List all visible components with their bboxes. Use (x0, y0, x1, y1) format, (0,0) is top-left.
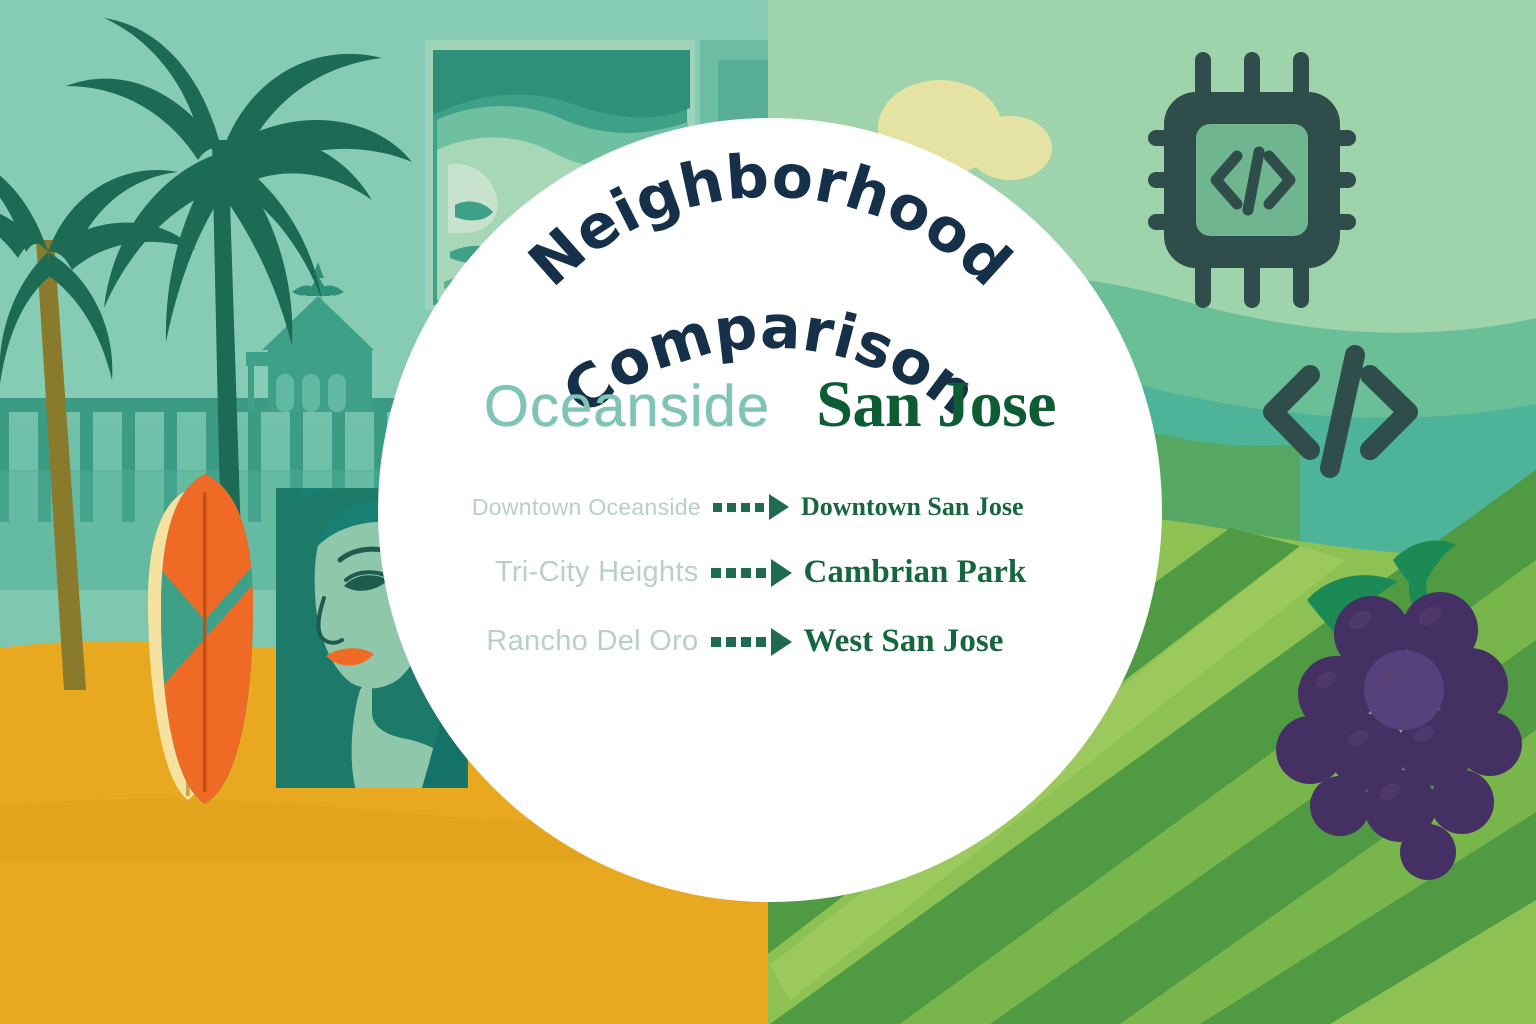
comparison-row: Rancho Del Oro West San Jose (378, 623, 1162, 660)
arrow-dash (711, 568, 721, 578)
neighborhood-to-label: West San Jose (804, 623, 1074, 660)
arrow-head (771, 559, 792, 587)
arrow-head (771, 628, 792, 656)
arrow-dash (756, 637, 766, 647)
arrow-dash (713, 503, 722, 512)
city-headers: Oceanside San Jose (378, 372, 1162, 456)
title-line-1: Neighborhood (516, 141, 1025, 300)
arrow-dash (726, 637, 736, 647)
comparison-row: Tri-City Heights Cambrian Park (378, 554, 1162, 591)
comparison-rows: Downtown Oceanside Downtown San Jose Tri… (378, 492, 1162, 660)
arrow-dash (755, 503, 764, 512)
arrow-dash (711, 637, 721, 647)
dashed-arrow-icon (711, 559, 792, 587)
neighborhood-from-label: Tri-City Heights (467, 556, 699, 589)
neighborhood-from-label: Rancho Del Oro (467, 625, 699, 658)
arrow-dash (726, 568, 736, 578)
city-left-label: Oceanside (484, 378, 770, 436)
arrow-dash (741, 503, 750, 512)
arrow-head (769, 494, 789, 520)
neighborhood-to-label: Cambrian Park (804, 554, 1074, 591)
city-right-label: San Jose (816, 372, 1056, 438)
neighborhood-from-label: Downtown Oceanside (469, 494, 701, 521)
comparison-row: Downtown Oceanside Downtown San Jose (378, 492, 1162, 522)
poster-canvas: Neighborhood Comparison Oceanside San Jo… (0, 0, 1536, 1024)
arrow-dash (741, 568, 751, 578)
dashed-arrow-icon (713, 494, 789, 520)
dashed-arrow-icon (711, 628, 792, 656)
arrow-dash (727, 503, 736, 512)
neighborhood-to-label: Downtown San Jose (801, 492, 1071, 522)
arrow-dash (756, 568, 766, 578)
arrow-dash (741, 637, 751, 647)
